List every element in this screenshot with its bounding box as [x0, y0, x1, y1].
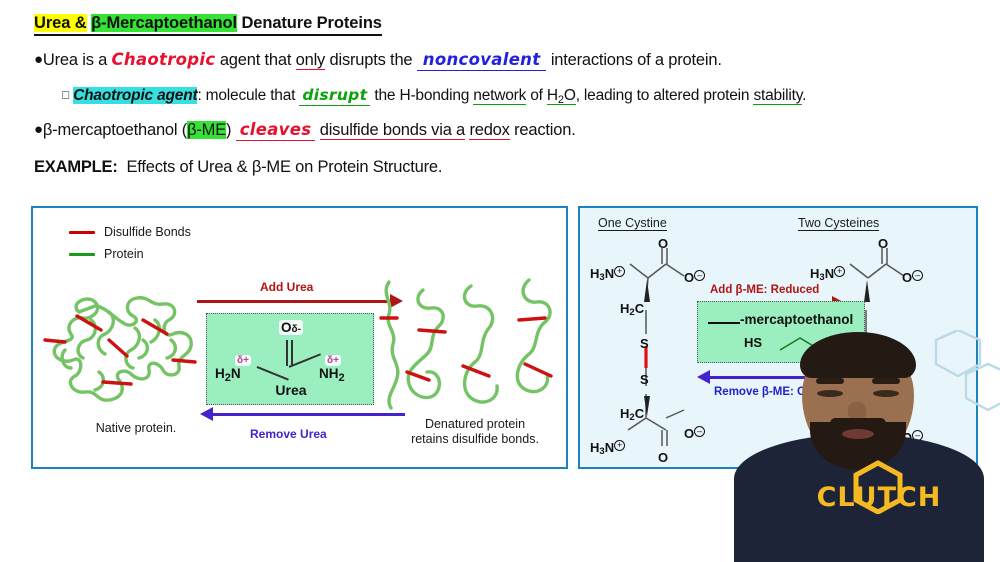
b1-only: only [296, 51, 325, 70]
clutch-logo: CLUTCH [814, 482, 944, 513]
cystine-carbonyl-o-bottom: O [658, 450, 668, 465]
example-line: EXAMPLE: Effects of Urea & β-ME on Prote… [34, 158, 442, 177]
annotation-noncovalent: noncovalent [417, 50, 547, 71]
tag-bme: β-ME [187, 121, 226, 139]
arrow-line-remove-urea [213, 413, 405, 416]
label-remove-urea: Remove Urea [250, 427, 327, 441]
wedge-bond-top [644, 280, 650, 302]
cystine-sulfur-top: S [640, 336, 649, 351]
person-hair [800, 332, 916, 378]
b3-pre: β-mercaptoethanol ( [43, 121, 187, 139]
person-mouth [842, 429, 874, 439]
urea-molecule-box: Oδ- δ+ H2N δ+ NH2 Urea [206, 313, 374, 405]
urea-delta-right: δ+ [325, 355, 341, 366]
cystine-amine-bottom: H3N+ [590, 440, 625, 457]
arrow-head-remove-urea [200, 407, 213, 421]
person-brow-left [816, 378, 844, 384]
page-title: Urea & β-Mercaptoethanol Denature Protei… [34, 14, 382, 36]
legend-item-protein: Protein [69, 243, 191, 265]
cysteine-amine-top: H3N+ [810, 266, 845, 283]
cystine-carbonyl-o-top: O [658, 236, 668, 251]
person-eye-right [873, 390, 899, 397]
legend: Disulfide Bonds Protein [69, 221, 191, 265]
bond-cn-left [257, 366, 289, 380]
b3-redox: redox [469, 121, 509, 140]
b3-mid: disulfide bonds via a [320, 121, 465, 140]
urea-oxygen: Oδ- [279, 320, 303, 335]
annotation-chaotropic: Chaotropic [112, 50, 216, 69]
term-chaotropic-agent: Chaotropic agent [73, 87, 197, 104]
bme-blank-line [708, 312, 740, 324]
square-bullet-icon: □ [62, 88, 69, 102]
legend-item-disulfide: Disulfide Bonds [69, 221, 191, 243]
caption-denatured-protein: Denatured protein retains disulfide bond… [385, 417, 565, 447]
b2-period: . [802, 87, 806, 104]
example-label: EXAMPLE: [34, 158, 118, 176]
protein-swatch-icon [69, 253, 95, 256]
bond-cn-right [289, 353, 321, 367]
bullet-urea-chaotropic: ●Urea is a Chaotropic agent that only di… [34, 50, 722, 70]
native-protein-illustration [39, 276, 209, 416]
slide-root: Urea & β-Mercaptoethanol Denature Protei… [0, 0, 1000, 562]
notes-area: Urea & β-Mercaptoethanol Denature Protei… [0, 0, 1000, 196]
disulfide-swatch-icon [69, 231, 95, 234]
b1-post: interactions of a protein. [551, 51, 722, 69]
wedge-bond-bottom [644, 396, 650, 416]
label-add-bme: Add β-ME: Reduced [710, 284, 819, 296]
label-add-urea: Add Urea [260, 280, 313, 294]
caption-native-protein: Native protein. [56, 421, 216, 436]
bond-co-2 [291, 340, 293, 366]
legend-label-disulfide: Disulfide Bonds [104, 225, 191, 239]
denatured-protein-illustration [379, 274, 569, 420]
b3-post: reaction. [514, 121, 576, 139]
heading-one-cystine: One Cystine [598, 216, 667, 231]
b1-mid: agent that [220, 51, 291, 69]
b3-paren: ) [226, 121, 231, 139]
figure-panel-urea: Disulfide Bonds Protein [31, 206, 568, 469]
title-highlight-yellow: Urea & [34, 14, 87, 32]
example-text: Effects of Urea & β-ME on Protein Struct… [126, 158, 442, 176]
cysteine-carboxyl-o-top: O– [902, 270, 923, 285]
urea-label: Urea [207, 382, 375, 398]
b2-post: , leading to altered protein [576, 87, 750, 104]
title-highlight-green: β-Mercaptoethanol [91, 14, 237, 32]
b2-colon: : [197, 87, 201, 104]
annotation-cleaves: cleaves [236, 120, 316, 141]
cystine-carboxyl-o-top: O– [684, 270, 705, 285]
bond-co-1 [286, 340, 288, 366]
person-moustache [830, 418, 886, 429]
cystine-ch2-bottom: H2C [620, 406, 644, 423]
person-eye-left [817, 390, 843, 397]
clutch-logo-text: CLUTCH [817, 482, 942, 513]
title-plain: Denature Proteins [241, 14, 381, 32]
arrow-line-add-urea [197, 300, 392, 303]
cystine-ch2-top: H2C [620, 301, 644, 318]
bullet-bme-cleaves: ●β-mercaptoethanol (β-ME) cleaves disulf… [34, 120, 576, 140]
b1-mid2: disrupts the [330, 51, 413, 69]
bullet-chaotropic-definition: □ Chaotropic agent: molecule that disrup… [62, 86, 806, 106]
cystine-carboxyl-o-bottom: O– [684, 426, 705, 441]
bme-name: -mercaptoethanol [708, 312, 853, 327]
cystine-sulfur-bottom: S [640, 372, 649, 387]
annotation-disrupt: disrupt [299, 86, 370, 106]
bullet-dot-icon-2: ● [34, 121, 43, 138]
urea-delta-left: δ+ [235, 355, 251, 366]
heading-two-cysteines: Two Cysteines [798, 216, 879, 231]
b2-mid: the H-bonding network of [374, 87, 542, 105]
b2-stability: stability [753, 87, 802, 105]
cystine-amine-top: H3N+ [590, 266, 625, 283]
b2-water: H2O [547, 87, 576, 105]
bullet-dot-icon: ● [34, 51, 43, 68]
person-brow-right [872, 378, 900, 384]
b2-pre: molecule that [206, 87, 296, 104]
cysteine-carbonyl-o-top: O [878, 236, 888, 251]
b1-pre: Urea is a [43, 51, 107, 69]
legend-label-protein: Protein [104, 247, 144, 261]
webcam-overlay: CLUTCH [706, 330, 1000, 562]
